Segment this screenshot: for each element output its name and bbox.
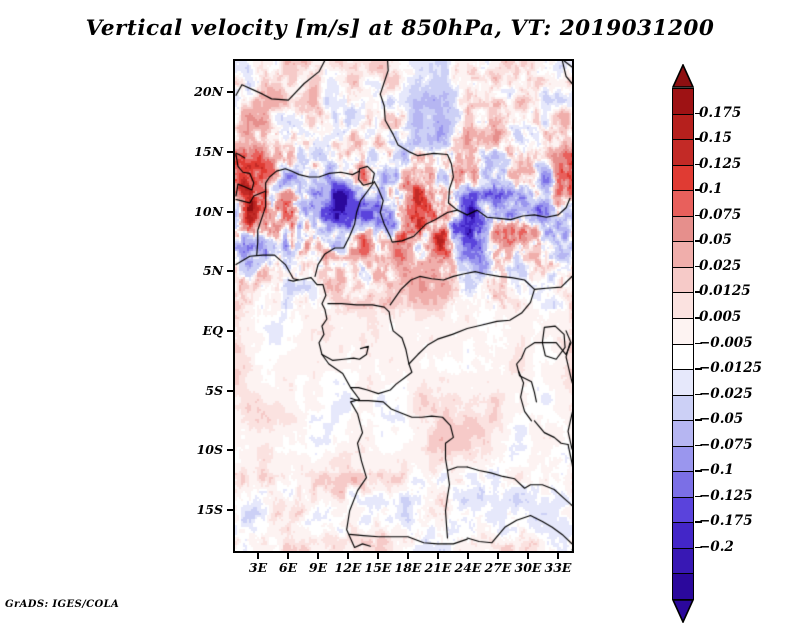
colorbar-band: [672, 318, 694, 345]
colorbar-top-arrow: [672, 64, 694, 88]
colorbar-band: [672, 216, 694, 243]
colorbar-tick-label: −0.075: [699, 437, 753, 453]
colorbar-band: [672, 420, 694, 447]
y-tick-mark: [227, 270, 233, 272]
colorbar-band: [672, 139, 694, 166]
colorbar-band: [672, 395, 694, 422]
colorbar-tick-label: 0.1: [699, 181, 723, 197]
y-tick-label: 10N: [171, 204, 223, 219]
x-tick-mark: [257, 553, 259, 559]
x-tick-mark: [347, 553, 349, 559]
map-plot-area: [233, 59, 574, 553]
colorbar-band: [672, 522, 694, 549]
colorbar-tick-label: −0.0125: [699, 360, 762, 376]
colorbar-tick-label: 0.15: [699, 130, 732, 146]
colorbar-band: [672, 267, 694, 294]
colorbar-band: [672, 88, 694, 115]
credit-label: GrADS: IGES/COLA: [5, 599, 119, 610]
colorbar-tick-label: 0.075: [699, 207, 741, 223]
colorbar-tick-label: 0.125: [699, 156, 741, 172]
y-tick-mark: [227, 509, 233, 511]
colorbar-tick-label: 0.175: [699, 105, 741, 121]
colorbar-band: [672, 471, 694, 498]
colorbar-band: [672, 446, 694, 473]
y-tick-label: EQ: [171, 323, 223, 338]
x-tick-mark: [407, 553, 409, 559]
colorbar-band: [672, 190, 694, 217]
x-tick-mark: [317, 553, 319, 559]
colorbar-tick-label: −0.125: [699, 488, 753, 504]
colorbar-band: [672, 573, 694, 600]
x-tick-mark: [377, 553, 379, 559]
x-tick-mark: [287, 553, 289, 559]
y-tick-label: 15N: [171, 144, 223, 159]
colorbar-tick-label: −0.05: [699, 411, 743, 427]
colorbar-band: [672, 548, 694, 575]
colorbar-band: [672, 292, 694, 319]
y-tick-label: 15S: [171, 502, 223, 517]
colorbar-band: [672, 497, 694, 524]
colorbar-band: [672, 241, 694, 268]
y-tick-mark: [227, 211, 233, 213]
colorbar-tick-label: 0.005: [699, 309, 741, 325]
x-tick-mark: [467, 553, 469, 559]
colorbar-tick-label: −0.1: [699, 462, 734, 478]
x-tick-mark: [437, 553, 439, 559]
colorbar-tick-label: −0.005: [699, 335, 753, 351]
y-tick-label: 20N: [171, 84, 223, 99]
x-tick-mark: [497, 553, 499, 559]
y-tick-mark: [227, 449, 233, 451]
y-tick-mark: [227, 151, 233, 153]
colorbar-band: [672, 165, 694, 192]
y-tick-mark: [227, 91, 233, 93]
colorbar-tick-label: −0.2: [699, 539, 734, 555]
colorbar-band: [672, 369, 694, 396]
x-tick-label: 33E: [538, 560, 578, 575]
colorbar-band: [672, 114, 694, 141]
y-tick-label: 10S: [171, 442, 223, 457]
vertical-velocity-field: [235, 61, 572, 551]
colorbar-tick-label: −0.175: [699, 513, 753, 529]
colorbar-tick-label: 0.0125: [699, 283, 751, 299]
x-tick-mark: [527, 553, 529, 559]
colorbar-band: [672, 344, 694, 371]
colorbar: 0.1750.150.1250.10.0750.050.0250.01250.0…: [671, 62, 697, 552]
y-tick-label: 5S: [171, 383, 223, 398]
x-tick-mark: [557, 553, 559, 559]
colorbar-bottom-arrow: [672, 599, 694, 623]
colorbar-tick-label: 0.025: [699, 258, 741, 274]
y-tick-mark: [227, 330, 233, 332]
y-tick-mark: [227, 390, 233, 392]
colorbar-tick-label: 0.05: [699, 232, 732, 248]
colorbar-tick-label: −0.025: [699, 386, 753, 402]
page-title: Vertical velocity [m/s] at 850hPa, VT: 2…: [0, 16, 800, 41]
y-tick-label: 5N: [171, 263, 223, 278]
